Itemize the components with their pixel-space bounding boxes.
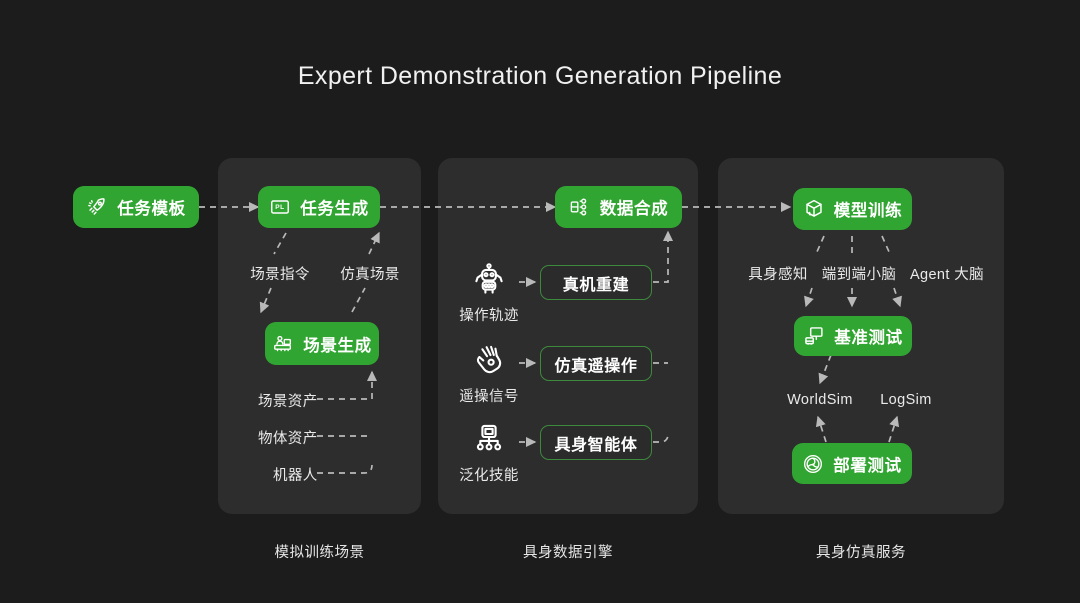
document-pl-icon: PL	[269, 196, 291, 218]
page-title: Expert Demonstration Generation Pipeline	[0, 62, 1080, 91]
svg-text:PL: PL	[276, 204, 286, 211]
diagram-canvas: Expert Demonstration Generation Pipeline	[0, 0, 1080, 603]
node-task-template[interactable]: 任务模板	[73, 186, 199, 228]
edge-label-logsim: LogSim	[866, 392, 946, 408]
edge-label-worldsim: WorldSim	[775, 392, 865, 408]
skill-network-icon	[470, 422, 508, 458]
cube-train-icon	[803, 198, 825, 220]
edge-label-end-to-end-cerebellum: 端到端小脑	[813, 263, 905, 284]
node-label: 场景生成	[303, 332, 371, 356]
scene-robot-icon	[272, 333, 294, 355]
benchmark-monitor-icon	[803, 325, 825, 347]
edge-label-agent-brain: Agent 大脑	[899, 263, 995, 284]
caption-embodied-simulation-service: 具身仿真服务	[718, 541, 1004, 562]
edge-label-simulated-scene: 仿真场景	[324, 263, 416, 284]
caption-simulation-training: 模拟训练场景	[218, 541, 421, 562]
deploy-circle-icon	[802, 453, 824, 475]
source-label-operation-trajectory: 操作轨迹	[452, 304, 526, 325]
node-label: 部署测试	[833, 452, 901, 476]
source-label-teleoperation-signal: 遥操信号	[452, 385, 526, 406]
node-label: 数据合成	[600, 195, 668, 219]
edge-label-embodied-perception: 具身感知	[734, 263, 822, 284]
node-model-training[interactable]: 模型训练	[793, 188, 912, 230]
input-label-object-assets: 物体资产	[258, 427, 318, 448]
node-label: 任务模板	[117, 195, 185, 219]
node-deployment-test[interactable]: 部署测试	[792, 443, 912, 484]
node-label: 模型训练	[834, 197, 902, 221]
node-label: 任务生成	[300, 195, 368, 219]
node-simulated-teleoperation[interactable]: 仿真遥操作	[540, 346, 652, 381]
node-task-generation[interactable]: PL 任务生成	[258, 186, 380, 228]
source-label-generalized-skill: 泛化技能	[452, 464, 526, 485]
node-label: 基准测试	[834, 324, 902, 348]
robot-icon	[470, 262, 508, 298]
data-synthesis-icon	[569, 196, 591, 218]
node-embodied-agent[interactable]: 具身智能体	[540, 425, 652, 460]
glove-icon	[470, 343, 508, 379]
input-label-scene-assets: 场景资产	[258, 390, 318, 411]
node-benchmark-test[interactable]: 基准测试	[794, 316, 912, 356]
node-real-machine-reconstruction[interactable]: 真机重建	[540, 265, 652, 300]
caption-embodied-data-engine: 具身数据引擎	[438, 541, 698, 562]
node-data-synthesis[interactable]: 数据合成	[555, 186, 682, 228]
node-scene-generation[interactable]: 场景生成	[265, 322, 379, 365]
rocket-icon	[86, 196, 108, 218]
edge-label-scene-instruction: 场景指令	[234, 263, 326, 284]
input-label-robot: 机器人	[273, 464, 318, 485]
